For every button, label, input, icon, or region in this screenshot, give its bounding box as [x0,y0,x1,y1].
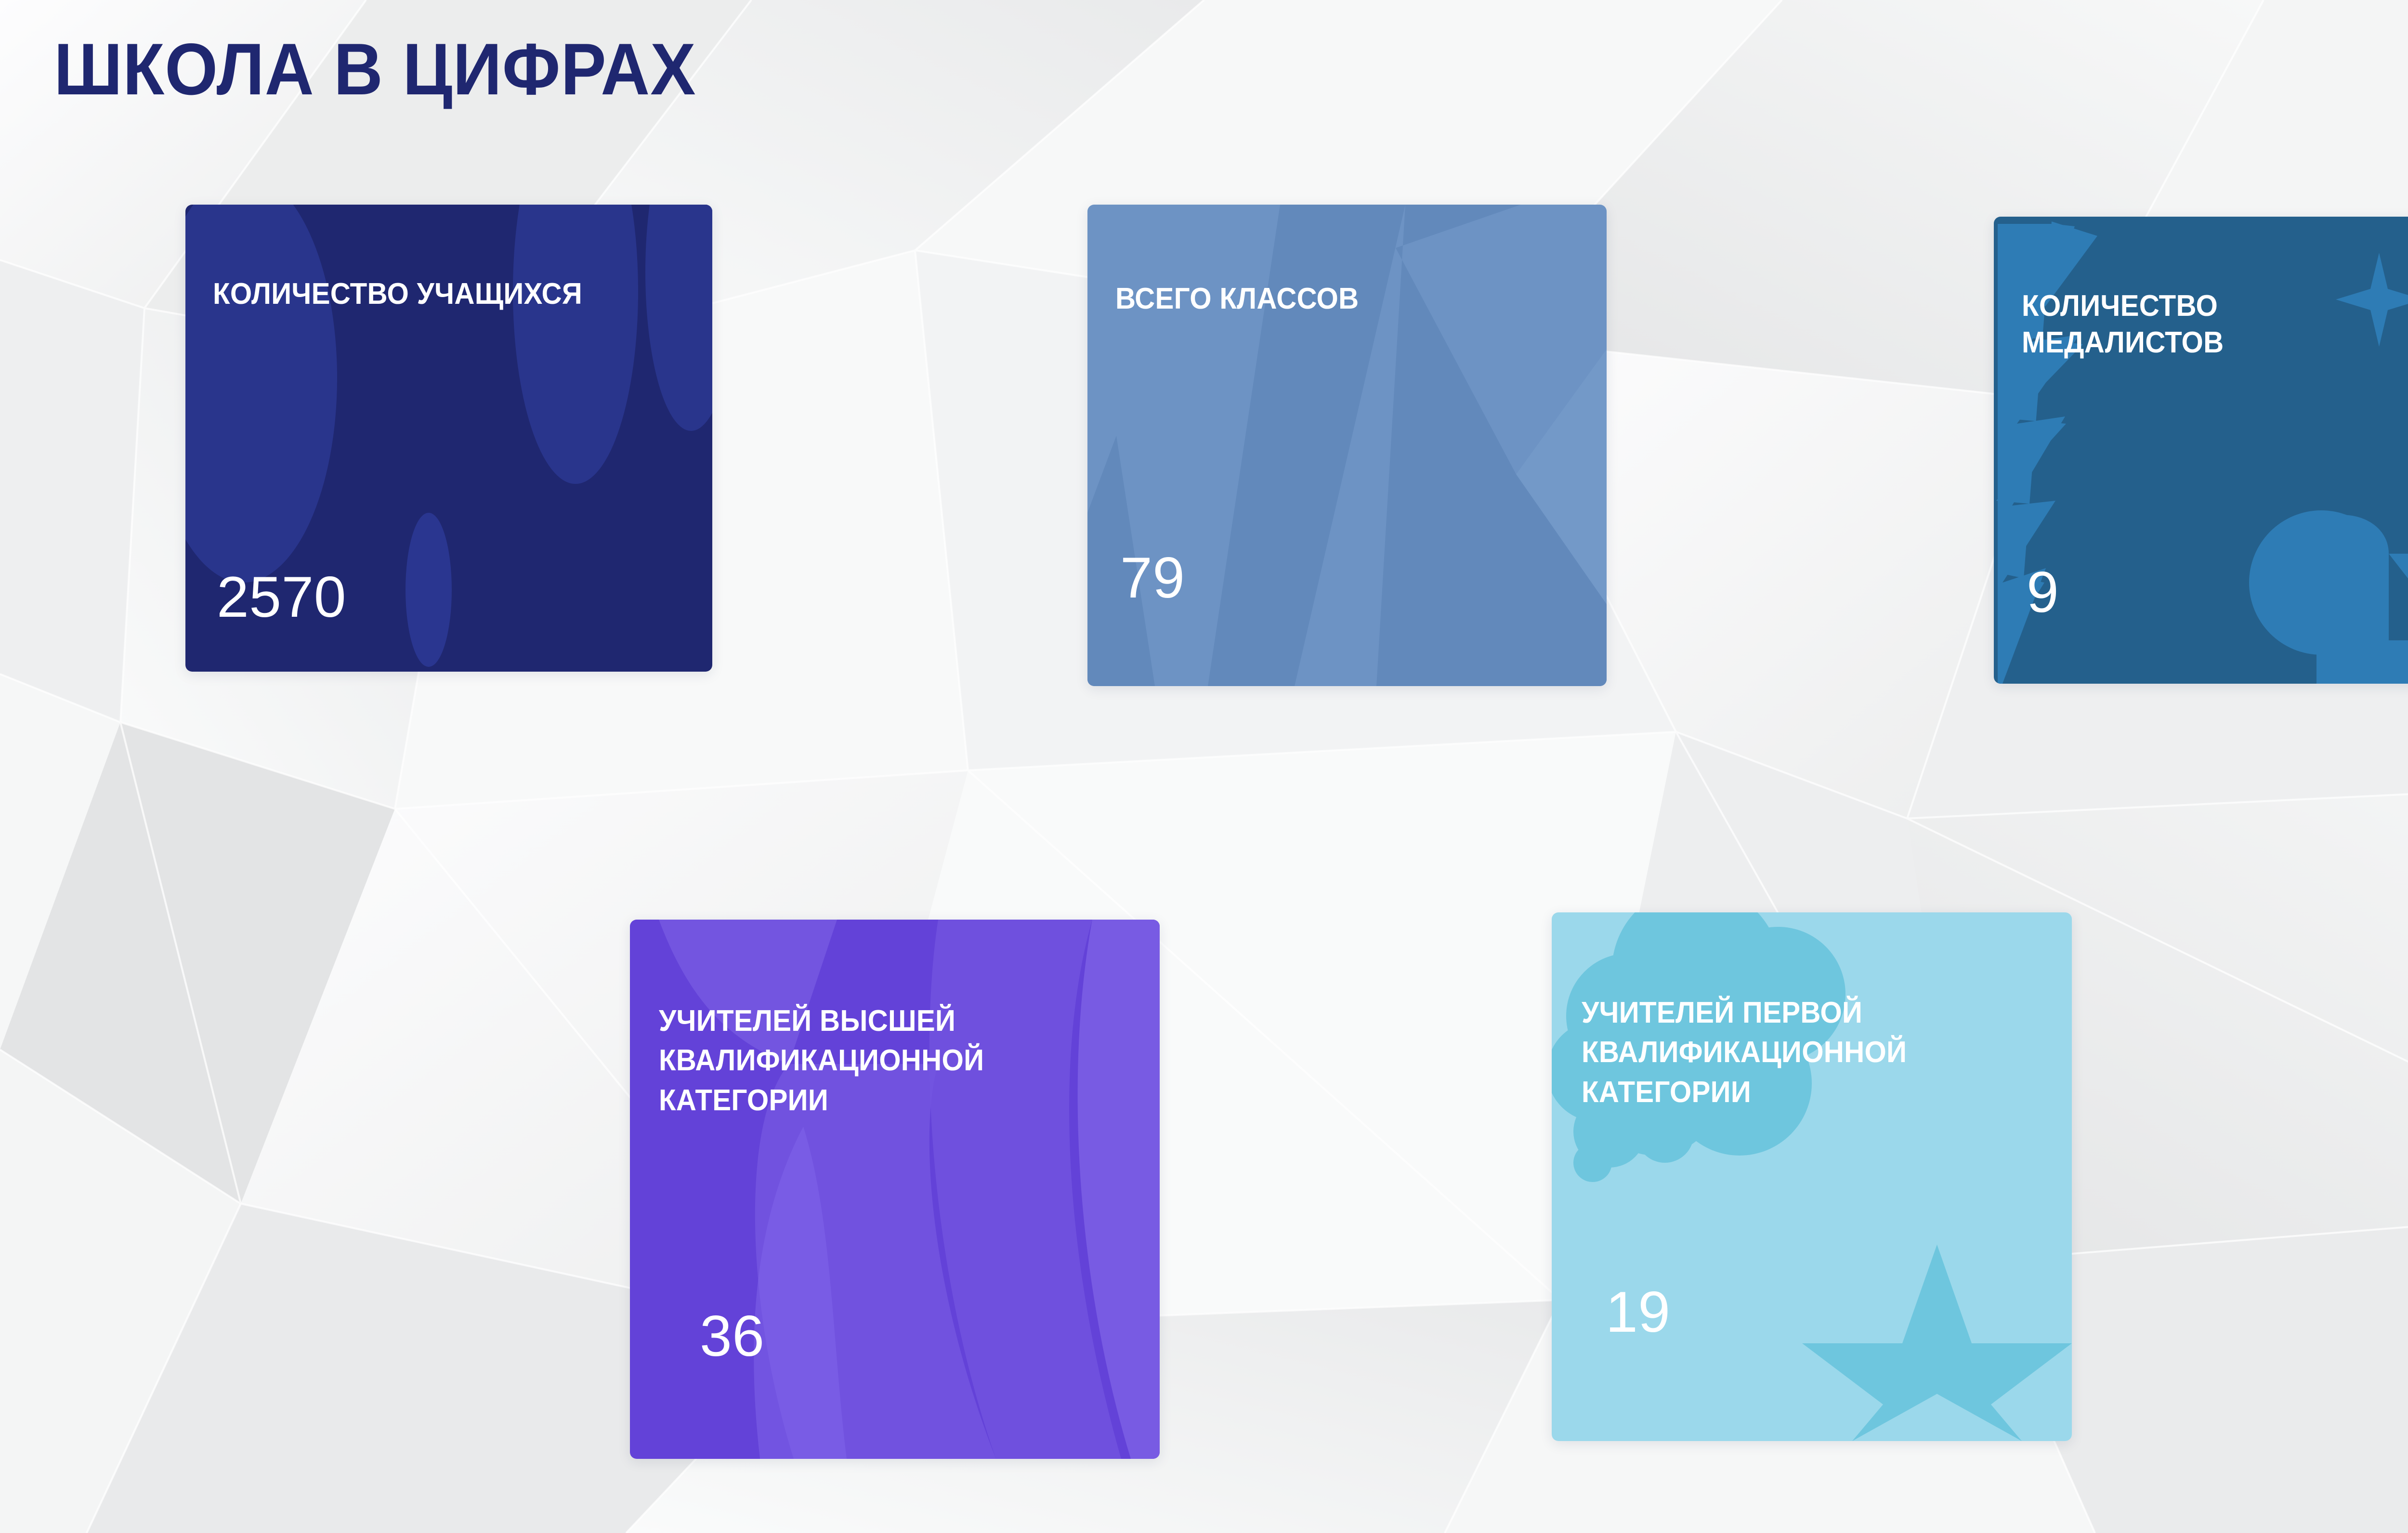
stat-card-students[interactable]: КОЛИЧЕСТВО УЧАЩИХСЯ 2570 [185,205,712,672]
stat-card-value: 36 [700,1307,764,1365]
stat-card-label: УЧИТЕЛЕЙ ВЫСШЕЙКВАЛИФИКАЦИОННОЙКАТЕГОРИИ [659,1001,984,1120]
page-title: ШКОЛА В ЦИФРАХ [54,33,696,106]
stat-card-classes[interactable]: ВСЕГО КЛАССОВ 79 [1087,205,1607,686]
stat-card-top-category-teachers[interactable]: УЧИТЕЛЕЙ ВЫСШЕЙКВАЛИФИКАЦИОННОЙКАТЕГОРИИ… [630,920,1160,1459]
stat-card-medalists[interactable]: КОЛИЧЕСТВОМЕДАЛИСТОВ 9 [1994,217,2408,684]
stat-card-value: 2570 [217,568,346,626]
stat-card-first-category-teachers[interactable]: УЧИТЕЛЕЙ ПЕРВОЙКВАЛИФИКАЦИОННОЙКАТЕГОРИИ… [1552,912,2072,1441]
stat-card-value: 79 [1120,549,1185,607]
stat-card-label: ВСЕГО КЛАССОВ [1115,281,1359,317]
stat-card-label: КОЛИЧЕСТВОМЕДАЛИСТОВ [2022,288,2224,361]
stat-card-label: КОЛИЧЕСТВО УЧАЩИХСЯ [213,276,582,312]
card-decoration-waves [630,920,1160,1459]
card-decoration-cloud-star [1552,912,2072,1441]
slide-root: ШКОЛА В ЦИФРАХ КОЛИЧЕСТВО УЧАЩИХСЯ 2570 … [0,0,2408,1533]
card-decoration-polygons [1087,205,1607,686]
stat-card-value: 19 [1606,1283,1670,1341]
stat-card-value: 9 [2027,563,2059,621]
stat-card-label: УЧИТЕЛЕЙ ПЕРВОЙКВАЛИФИКАЦИОННОЙКАТЕГОРИИ [1582,993,1907,1112]
